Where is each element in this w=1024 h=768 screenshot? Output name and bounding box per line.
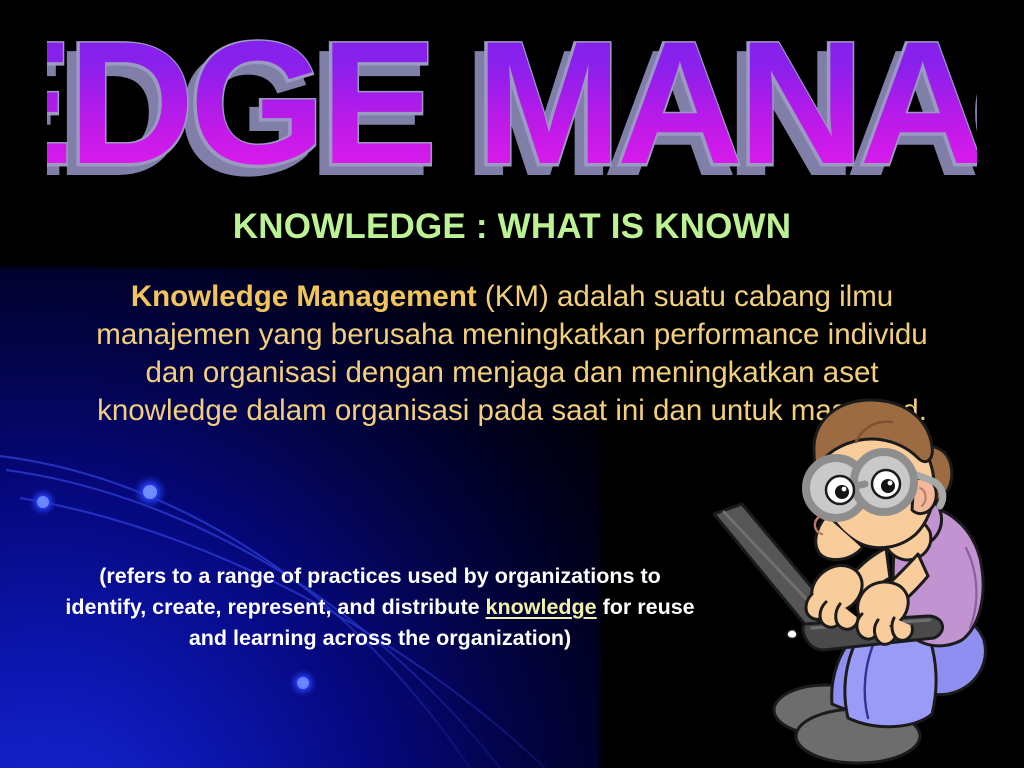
hand-far: [806, 565, 862, 629]
wordart-title: KNOWLEDGE MANAGEMENT KNOWLEDGE MANAGEMEN…: [0, 14, 1024, 194]
arc-node-dot: [29, 488, 57, 516]
slide-subtitle: KNOWLEDGE : WHAT IS KNOWN: [0, 207, 1024, 247]
note-paragraph: (refers to a range of practices used by …: [60, 561, 700, 654]
arc-node-dot: [289, 669, 317, 697]
title-wordart-svg: KNOWLEDGE MANAGEMENT KNOWLEDGE MANAGEMEN…: [47, 19, 977, 189]
title-face-layer: KNOWLEDGE MANAGEMENT: [47, 19, 977, 189]
clipart-svg: [708, 388, 1024, 768]
nerd-typing-on-laptop-clipart: [708, 388, 1024, 768]
hand-near: [857, 582, 912, 644]
laptop-cable: [787, 630, 797, 639]
slide-canvas: KNOWLEDGE MANAGEMENT KNOWLEDGE MANAGEMEN…: [0, 0, 1024, 768]
note-keyword-knowledge: knowledge: [486, 595, 597, 619]
body-lead-phrase: Knowledge Management: [131, 280, 477, 313]
glasses-icon: [806, 452, 914, 518]
arc-node-dot: [133, 475, 167, 509]
